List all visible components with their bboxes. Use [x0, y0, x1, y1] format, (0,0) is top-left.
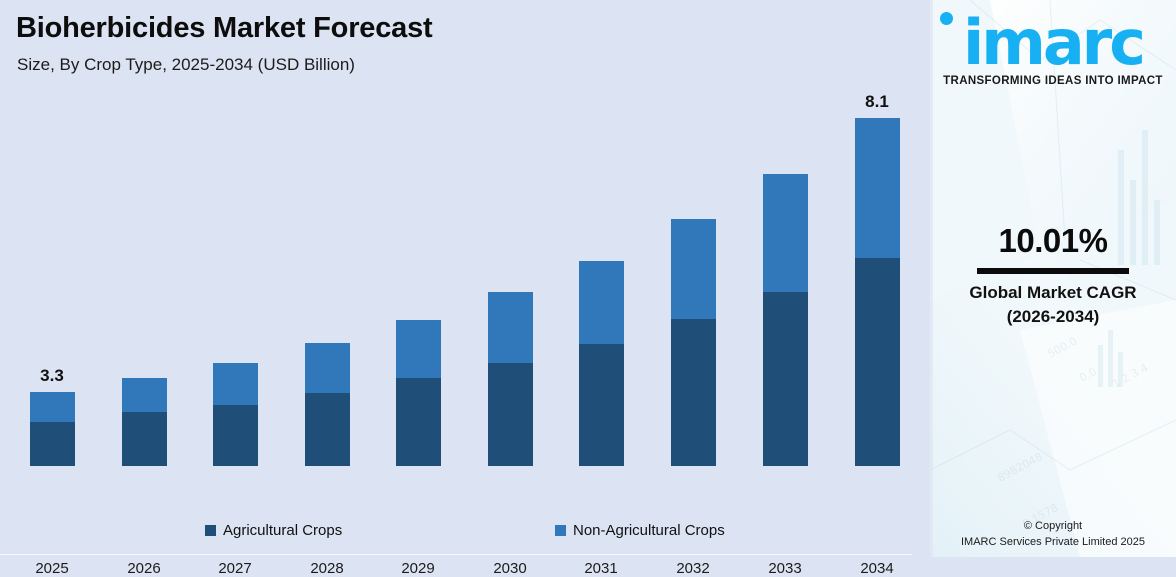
bar-2030[interactable]	[488, 292, 533, 466]
bar-segment-non-agricultural[interactable]	[305, 343, 350, 393]
bar-2025[interactable]	[30, 392, 75, 466]
legend-label: Non-Agricultural Crops	[573, 522, 725, 539]
bar-segment-agricultural[interactable]	[763, 292, 808, 466]
plot-area: 3.38.1 202520262027202820292030203120322…	[0, 88, 930, 466]
bar-segment-non-agricultural[interactable]	[488, 292, 533, 363]
bar-2031[interactable]	[579, 261, 624, 466]
chart-panel: Bioherbicides Market Forecast Size, By C…	[0, 0, 930, 557]
bar-segment-agricultural[interactable]	[213, 405, 258, 466]
bar-segment-non-agricultural[interactable]	[579, 261, 624, 344]
copyright-line-1: © Copyright	[930, 519, 1176, 535]
legend-swatch-icon	[205, 525, 216, 536]
page-subtitle: Size, By Crop Type, 2025-2034 (USD Billi…	[17, 55, 355, 75]
bar-segment-agricultural[interactable]	[488, 363, 533, 466]
legend-label: Agricultural Crops	[223, 522, 342, 539]
cagr-label-period: (2026-2034)	[930, 307, 1176, 327]
x-axis-label-2025: 2025	[12, 560, 92, 577]
x-axis-label-2028: 2028	[287, 560, 367, 577]
bar-segment-agricultural[interactable]	[579, 344, 624, 466]
logo-dot-icon	[940, 12, 953, 25]
bar-segment-non-agricultural[interactable]	[122, 378, 167, 412]
x-axis-label-2027: 2027	[195, 560, 275, 577]
side-panel: 500.0 0.0 1 2 3 4 8982048 0.1578 imarc T…	[930, 0, 1176, 557]
bar-segment-agricultural[interactable]	[122, 412, 167, 466]
bar-segment-non-agricultural[interactable]	[396, 320, 441, 378]
x-axis-label-2031: 2031	[561, 560, 641, 577]
bar-segment-non-agricultural[interactable]	[30, 392, 75, 422]
bar-2034[interactable]	[855, 118, 900, 466]
x-axis-label-2026: 2026	[104, 560, 184, 577]
cagr-label-primary: Global Market CAGR	[930, 283, 1176, 303]
copyright-notice: © Copyright IMARC Services Private Limit…	[930, 519, 1176, 551]
legend-item-agricultural[interactable]: Agricultural Crops	[205, 522, 342, 539]
bar-2027[interactable]	[213, 363, 258, 466]
bar-segment-agricultural[interactable]	[30, 422, 75, 466]
bar-segment-agricultural[interactable]	[396, 378, 441, 466]
logo-wordmark: imarc	[963, 14, 1143, 73]
bar-2033[interactable]	[763, 174, 808, 466]
page-title: Bioherbicides Market Forecast	[16, 12, 432, 45]
legend-item-non-agricultural[interactable]: Non-Agricultural Crops	[555, 522, 725, 539]
cagr-value: 10.01%	[930, 222, 1176, 260]
x-axis-label-2034: 2034	[837, 560, 917, 577]
cagr-block: 10.01% Global Market CAGR (2026-2034)	[930, 222, 1176, 327]
copyright-line-2: IMARC Services Private Limited 2025	[930, 535, 1176, 551]
bar-value-2025: 3.3	[40, 366, 64, 386]
legend-swatch-icon	[555, 525, 566, 536]
x-axis-label-2033: 2033	[745, 560, 825, 577]
bar-segment-non-agricultural[interactable]	[763, 174, 808, 292]
bar-segment-non-agricultural[interactable]	[671, 219, 716, 319]
bar-2026[interactable]	[122, 378, 167, 466]
bar-segment-agricultural[interactable]	[855, 258, 900, 466]
bar-segment-agricultural[interactable]	[671, 319, 716, 466]
x-axis-label-2032: 2032	[653, 560, 733, 577]
bar-value-2034: 8.1	[865, 92, 889, 112]
cagr-divider	[977, 268, 1129, 274]
x-axis-label-2029: 2029	[378, 560, 458, 577]
x-axis-label-2030: 2030	[470, 560, 550, 577]
chart-page: Bioherbicides Market Forecast Size, By C…	[0, 0, 1176, 557]
bar-2028[interactable]	[305, 343, 350, 466]
chart-legend: Agricultural CropsNon-Agricultural Crops	[0, 522, 930, 557]
bar-segment-agricultural[interactable]	[305, 393, 350, 466]
imarc-logo: imarc TRANSFORMING IDEAS INTO IMPACT	[930, 14, 1176, 87]
bar-segment-non-agricultural[interactable]	[213, 363, 258, 405]
bar-2032[interactable]	[671, 219, 716, 466]
bar-segment-non-agricultural[interactable]	[855, 118, 900, 258]
bar-2029[interactable]	[396, 320, 441, 466]
